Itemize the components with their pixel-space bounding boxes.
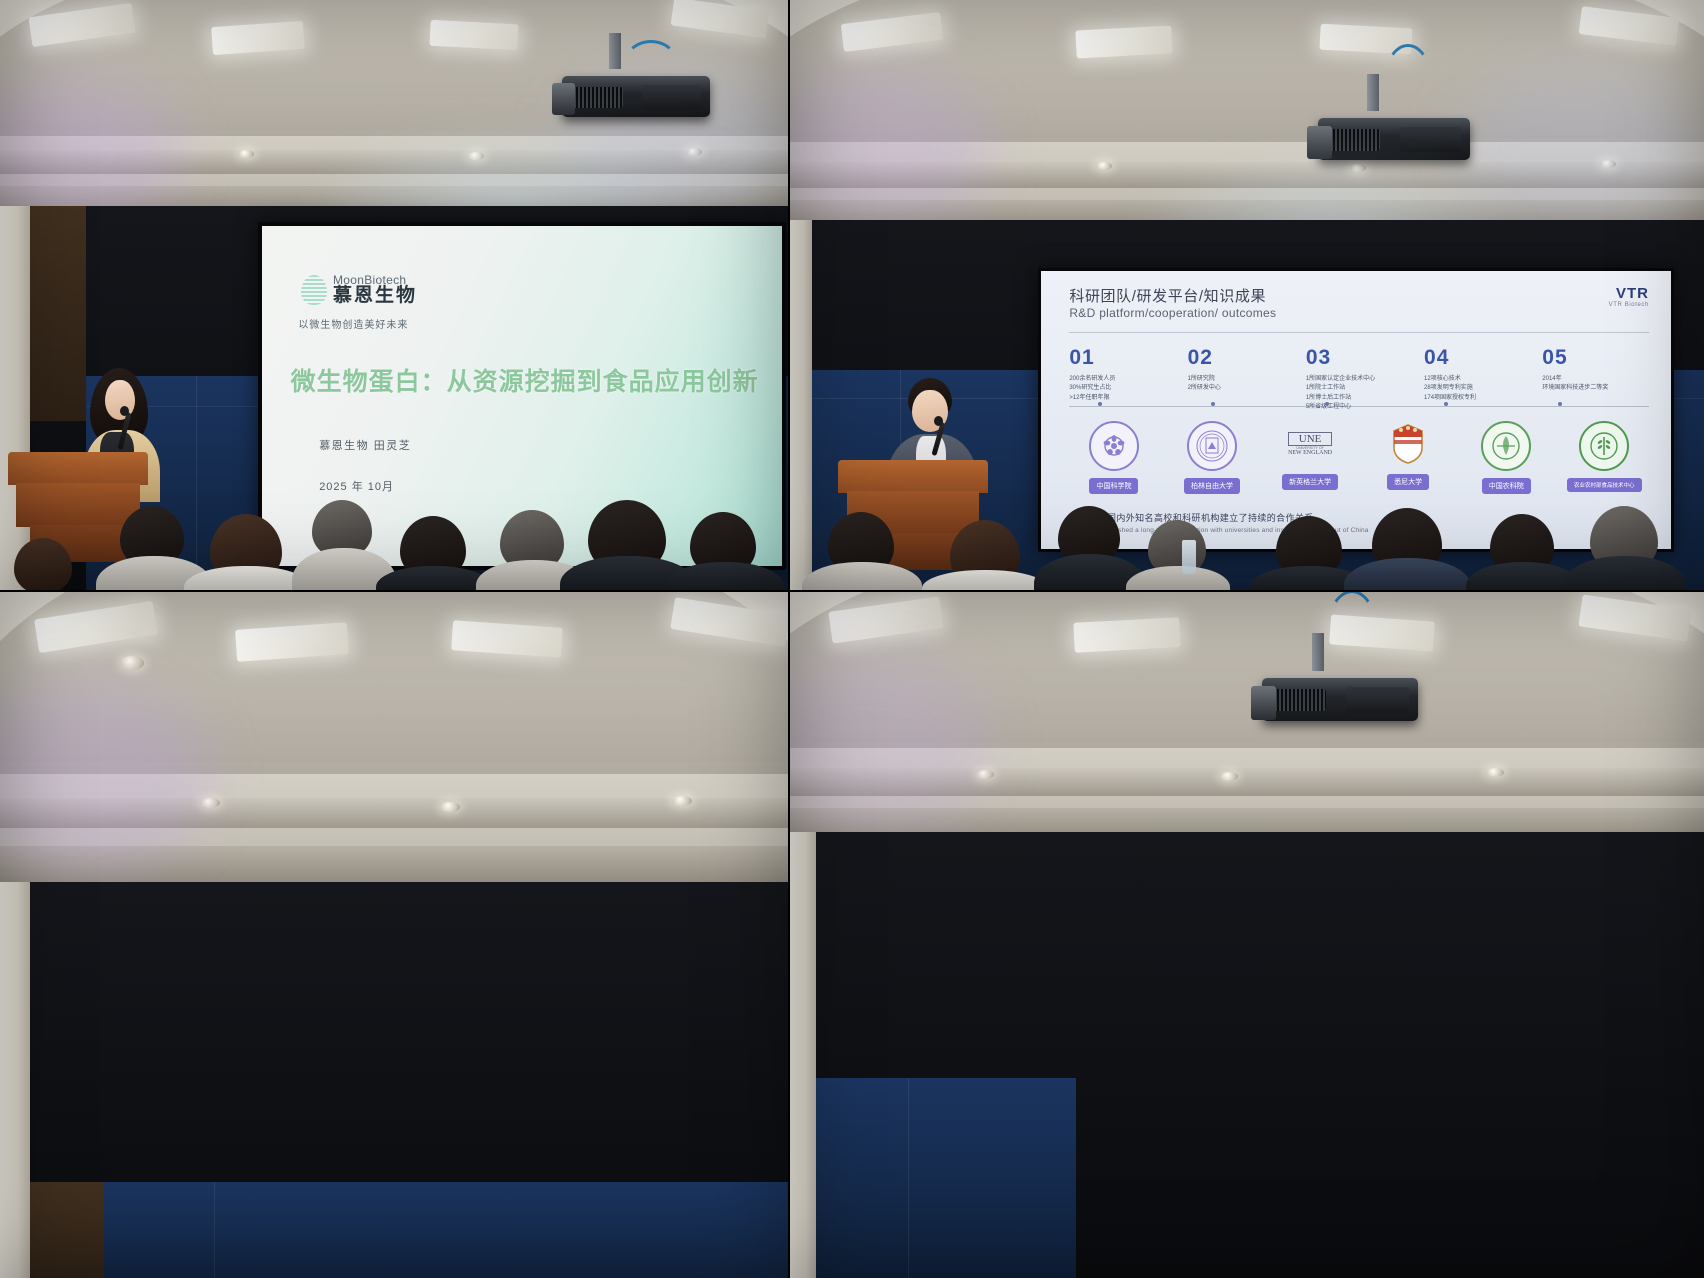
- stat-number: 05: [1542, 346, 1649, 370]
- stat-lines: 2014年 环境国家科技进步二等奖: [1542, 375, 1649, 394]
- une-seal-icon: UNE UNIVERSITY OF NEW ENGLAND: [1287, 421, 1333, 467]
- stat-number: 04: [1424, 346, 1531, 370]
- leaf-mark-icon: [301, 275, 327, 305]
- panel-divider-horizontal: [0, 590, 1704, 592]
- partner-item: UNE UNIVERSITY OF NEW ENGLAND 新英格兰大学: [1265, 421, 1354, 494]
- slide-heading-en: R&D platform/cooperation/ outcomes: [1069, 306, 1276, 320]
- moonbiotech-logo: MoonBiotech 慕恩生物: [301, 274, 417, 307]
- slide-heading-cn: 科研团队/研发平台/知识成果: [1069, 285, 1266, 306]
- stat-column: 04 12项核心技术 28项发明专利实施 174项国家授权专利: [1424, 346, 1531, 412]
- panel-top-right: 科研团队/研发平台/知识成果 R&D platform/cooperation/…: [790, 0, 1704, 590]
- stat-column: 01 200余名研发人员 30%研究生占比 >12年任职年限: [1069, 346, 1176, 412]
- partner-item: 中国农科院: [1462, 421, 1551, 494]
- partner-item: 柏林自由大学: [1167, 421, 1256, 494]
- stat-lines: 200余名研发人员 30%研究生占比 >12年任职年限: [1069, 375, 1176, 403]
- wheat-seal-icon: [1579, 421, 1629, 471]
- slide-vtr: 科研团队/研发平台/知识成果 R&D platform/cooperation/…: [1041, 271, 1671, 549]
- usyd-crest-icon: [1385, 421, 1431, 467]
- stat-number: 01: [1069, 346, 1176, 370]
- panel-bottom-right: 广新集团 GSL 星湖科技 STAR LAKE BIOSCIENCE: [790, 592, 1704, 1278]
- partner-item: 中国科学院: [1069, 421, 1158, 494]
- stat-columns: 01 200余名研发人员 30%研究生占比 >12年任职年限 02 1所研究院 …: [1069, 346, 1649, 412]
- timeline-rule: [1069, 406, 1649, 407]
- date-line: 2025 年 10月: [319, 478, 394, 494]
- partner-label: 新英格兰大学: [1282, 474, 1338, 490]
- projector: [562, 62, 710, 132]
- photo-collage: MoonBiotech 慕恩生物 以微生物创造美好未来 微生物蛋白：从资源挖掘到…: [0, 0, 1704, 1278]
- panel-top-left: MoonBiotech 慕恩生物 以微生物创造美好未来 微生物蛋白：从资源挖掘到…: [0, 0, 788, 590]
- partner-label: 中国科学院: [1089, 478, 1138, 494]
- partner-item: 农业农村部食品技术中心: [1560, 421, 1649, 494]
- caas-seal-icon: [1481, 421, 1531, 471]
- vtr-brand-sub: VTR Biotech: [1609, 302, 1649, 308]
- tagline: 以微生物创造美好未来: [298, 316, 408, 331]
- presenter-line: 慕恩生物 田灵芝: [319, 437, 411, 453]
- stat-number: 03: [1306, 346, 1413, 370]
- projector: [1262, 664, 1418, 738]
- partner-label: 柏林自由大学: [1184, 478, 1240, 494]
- stat-column: 03 1所国家认定企业技术中心 1所院士工作站 1所博士后工作站 5所省级工程中…: [1306, 346, 1413, 412]
- partner-label: 悉尼大学: [1387, 474, 1429, 490]
- panel-bottom-left: MedPHA 麦得发 生物制造 “塑” 造未来 PHA赋能食品包装绿色焕新 20…: [0, 592, 788, 1278]
- stat-lines: 1所研究院 2所研发中心: [1188, 375, 1295, 394]
- partner-logos: 中国科学院 柏林自由大学 UN: [1069, 421, 1649, 494]
- water-bottle: [1182, 540, 1196, 574]
- projection-screen: 科研团队/研发平台/知识成果 R&D platform/cooperation/…: [1038, 268, 1674, 552]
- stat-number: 02: [1188, 346, 1295, 370]
- stat-column: 02 1所研究院 2所研发中心: [1188, 346, 1295, 412]
- partner-item: 悉尼大学: [1364, 421, 1453, 494]
- slide-title: 微生物蛋白：从资源挖掘到食品应用创新: [291, 362, 767, 398]
- logo-cn: 慕恩生物: [333, 286, 417, 306]
- fu-berlin-seal-icon: [1187, 421, 1237, 471]
- partner-label: 农业农村部食品技术中心: [1567, 478, 1642, 492]
- partner-label: 中国农科院: [1482, 478, 1531, 494]
- divider: [1069, 332, 1649, 333]
- vtr-brand: VTR: [1609, 285, 1649, 302]
- stat-lines: 12项核心技术 28项发明专利实施 174项国家授权专利: [1424, 375, 1531, 403]
- panel-divider-vertical: [788, 0, 790, 1278]
- vtr-logo: VTR VTR Biotech: [1609, 285, 1649, 308]
- academy-seal-icon: [1089, 421, 1139, 471]
